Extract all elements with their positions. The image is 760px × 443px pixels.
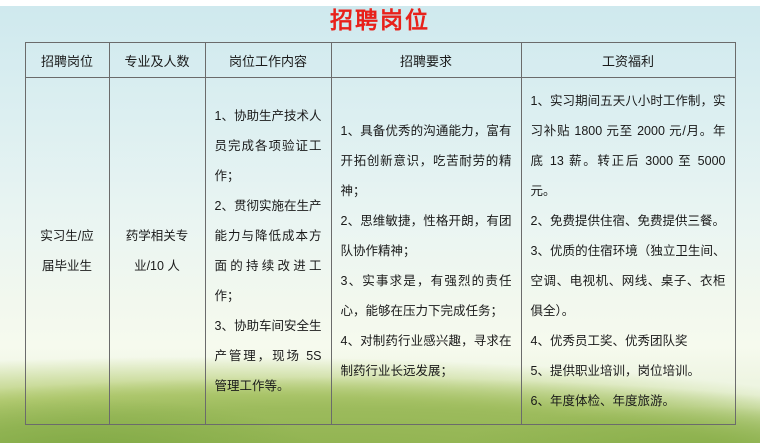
benefit-item: 2、免费提供住宿、免费提供三餐。 xyxy=(531,206,726,236)
column-header-position: 招聘岗位 xyxy=(25,43,109,78)
benefit-item: 3、优质的住宿环境（独立卫生间、空调、电视机、网线、桌子、衣柜俱全）。 xyxy=(531,236,726,326)
table-row: 实习生/应届毕业生 药学相关专业/10 人 1、协助生产技术人员完成各项验证工作… xyxy=(25,78,735,425)
duty-item: 1、协助生产技术人员完成各项验证工作； xyxy=(215,101,322,191)
requirement-item: 3、实事求是，有强烈的责任心，能够在压力下完成任务； xyxy=(341,266,512,326)
duty-item: 3、协助车间安全生产管理，现场 5S 管理工作等。 xyxy=(215,311,322,401)
page-content: 招聘岗位 招聘岗位 专业及人数 岗位工作内容 招聘要求 工资福利 实习生/应届毕… xyxy=(0,6,760,425)
benefit-item: 4、优秀员工奖、优秀团队奖 xyxy=(531,326,726,356)
requirement-item: 1、具备优秀的沟通能力，富有开拓创新意识，吃苦耐劳的精神； xyxy=(341,116,512,206)
benefit-item: 5、提供职业培训，岗位培训。 xyxy=(531,356,726,386)
column-header-major-count: 专业及人数 xyxy=(109,43,205,78)
duty-item: 2、贯彻实施在生产能力与降低成本方面的持续改进工作； xyxy=(215,191,322,311)
requirement-item: 2、思维敏捷，性格开朗，有团队协作精神； xyxy=(341,206,512,266)
table-header-row: 招聘岗位 专业及人数 岗位工作内容 招聘要求 工资福利 xyxy=(25,43,735,78)
benefit-item: 1、实习期间五天八小时工作制，实习补贴 1800 元至 2000 元/月。年底 … xyxy=(531,86,726,206)
column-header-benefits: 工资福利 xyxy=(521,43,735,78)
cell-major-count: 药学相关专业/10 人 xyxy=(109,78,205,425)
cell-position: 实习生/应届毕业生 xyxy=(25,78,109,425)
page-title: 招聘岗位 xyxy=(0,6,760,34)
column-header-duties: 岗位工作内容 xyxy=(205,43,331,78)
column-header-requirements: 招聘要求 xyxy=(331,43,521,78)
cell-requirements: 1、具备优秀的沟通能力，富有开拓创新意识，吃苦耐劳的精神； 2、思维敏捷，性格开… xyxy=(331,78,521,425)
cell-duties: 1、协助生产技术人员完成各项验证工作； 2、贯彻实施在生产能力与降低成本方面的持… xyxy=(205,78,331,425)
recruitment-table: 招聘岗位 专业及人数 岗位工作内容 招聘要求 工资福利 实习生/应届毕业生 药学… xyxy=(25,42,736,425)
cell-benefits: 1、实习期间五天八小时工作制，实习补贴 1800 元至 2000 元/月。年底 … xyxy=(521,78,735,425)
benefit-item: 6、年度体检、年度旅游。 xyxy=(531,386,726,416)
requirement-item: 4、对制药行业感兴趣，寻求在制药行业长远发展； xyxy=(341,326,512,386)
